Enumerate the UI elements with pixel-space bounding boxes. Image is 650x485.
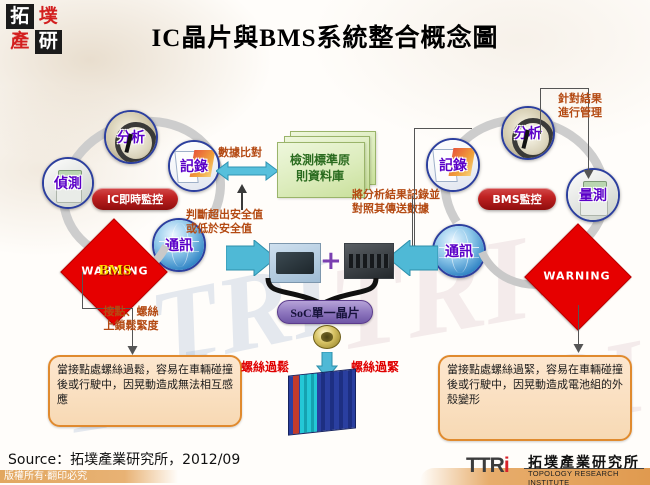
battery-pack-red-cell xyxy=(293,375,299,434)
tri-wordmark-letters: TTR xyxy=(466,454,504,477)
annotation-safety-judge: 判斷超出安全值 或低於安全值 xyxy=(186,208,306,236)
tri-footer-logo: TTRi 拓墣產業研究所 TOPOLOGY RESEARCH INSTITUTE xyxy=(466,452,646,482)
tri-wordmark: TTRi xyxy=(466,454,509,478)
node-detect-left[interactable]: 偵測 xyxy=(42,157,94,209)
right-warning-badge: WARNING xyxy=(512,248,642,304)
node-label: 偵測 xyxy=(44,173,92,193)
callout-left-loose: 當接點處螺絲過鬆，容易在車輛碰撞後或行駛中，因晃動造成無法相互感應 xyxy=(48,355,242,427)
warning-text: WARNING xyxy=(512,270,642,283)
node-record-right[interactable]: 記錄 xyxy=(426,138,480,192)
copyright-text: 版權所有‧翻印必究 xyxy=(4,470,87,483)
tri-brand-en: TOPOLOGY RESEARCH INSTITUTE xyxy=(528,469,646,485)
soc-label-text: SoC單一晶片 xyxy=(290,304,359,321)
ic-chip-photo xyxy=(269,243,321,283)
callout-right-tight: 當接點處螺絲過緊，容易在車輛碰撞後或行駛中，因晃動造成電池組的外殼變形 xyxy=(438,355,632,441)
manage-leader-arrowhead xyxy=(583,168,594,180)
database-label-line2: 則資料庫 xyxy=(277,168,363,184)
page-title: IC晶片與BMS系統整合概念圖 xyxy=(0,18,650,54)
tri-wordmark-i: i xyxy=(504,454,509,477)
arrow-into-battery xyxy=(388,240,438,276)
label-screw-too-loose: 螺絲過鬆 xyxy=(241,358,289,375)
annotation-manage-result: 針對結果 進行管理 xyxy=(558,92,644,120)
right-record-leader-top xyxy=(414,128,472,129)
slide-canvas: TRI TRI TRI TRI 拓 墣 產 研 IC晶片與BMS系統整合概念圖 … xyxy=(0,0,650,485)
battery-pack-photo xyxy=(288,368,356,435)
left-warning-badge: WARNING BMS xyxy=(50,243,180,299)
node-analysis-right[interactable]: 分析 xyxy=(501,106,555,160)
pill-text: BMS監控 xyxy=(492,191,541,207)
plus-sign: + xyxy=(320,248,342,274)
right-leader-arrowhead xyxy=(573,342,584,354)
right-leader-vertical xyxy=(578,305,579,347)
node-label: 記錄 xyxy=(428,155,478,175)
node-label: 量測 xyxy=(568,185,618,205)
left-cycle-center-label: IC即時監控 xyxy=(92,188,178,210)
source-line: Source：拓墣產業研究所，2012/09 xyxy=(8,449,240,469)
manage-leader-top xyxy=(540,88,588,89)
node-record-left[interactable]: 記錄 xyxy=(168,140,220,192)
right-cycle-center-label: BMS監控 xyxy=(478,188,556,210)
safety-judge-up-arrow xyxy=(236,184,248,210)
node-label: 通訊 xyxy=(434,241,484,261)
database-label: 檢測標準原 則資料庫 xyxy=(277,152,363,184)
node-label: 記錄 xyxy=(170,156,218,176)
soc-chip-label: SoC單一晶片 xyxy=(277,300,373,324)
database-label-line1: 檢測標準原 xyxy=(277,152,363,168)
battery-pack-teal-cells xyxy=(300,374,317,434)
hex-nut-photo xyxy=(313,325,341,349)
battery-module-photo xyxy=(344,243,394,279)
bms-overlay-text: BMS xyxy=(50,263,180,280)
pill-text: IC即時監控 xyxy=(107,191,163,207)
data-compare-double-arrow xyxy=(216,160,278,182)
manage-leader-left xyxy=(540,88,541,134)
annotation-screw-tightness: 接點、螺絲 上鎖鬆緊度 xyxy=(76,305,186,333)
label-screw-too-tight: 螺絲過緊 xyxy=(351,358,399,375)
right-record-leader-left xyxy=(414,128,415,248)
node-analysis-left[interactable]: 分析 xyxy=(104,110,158,164)
